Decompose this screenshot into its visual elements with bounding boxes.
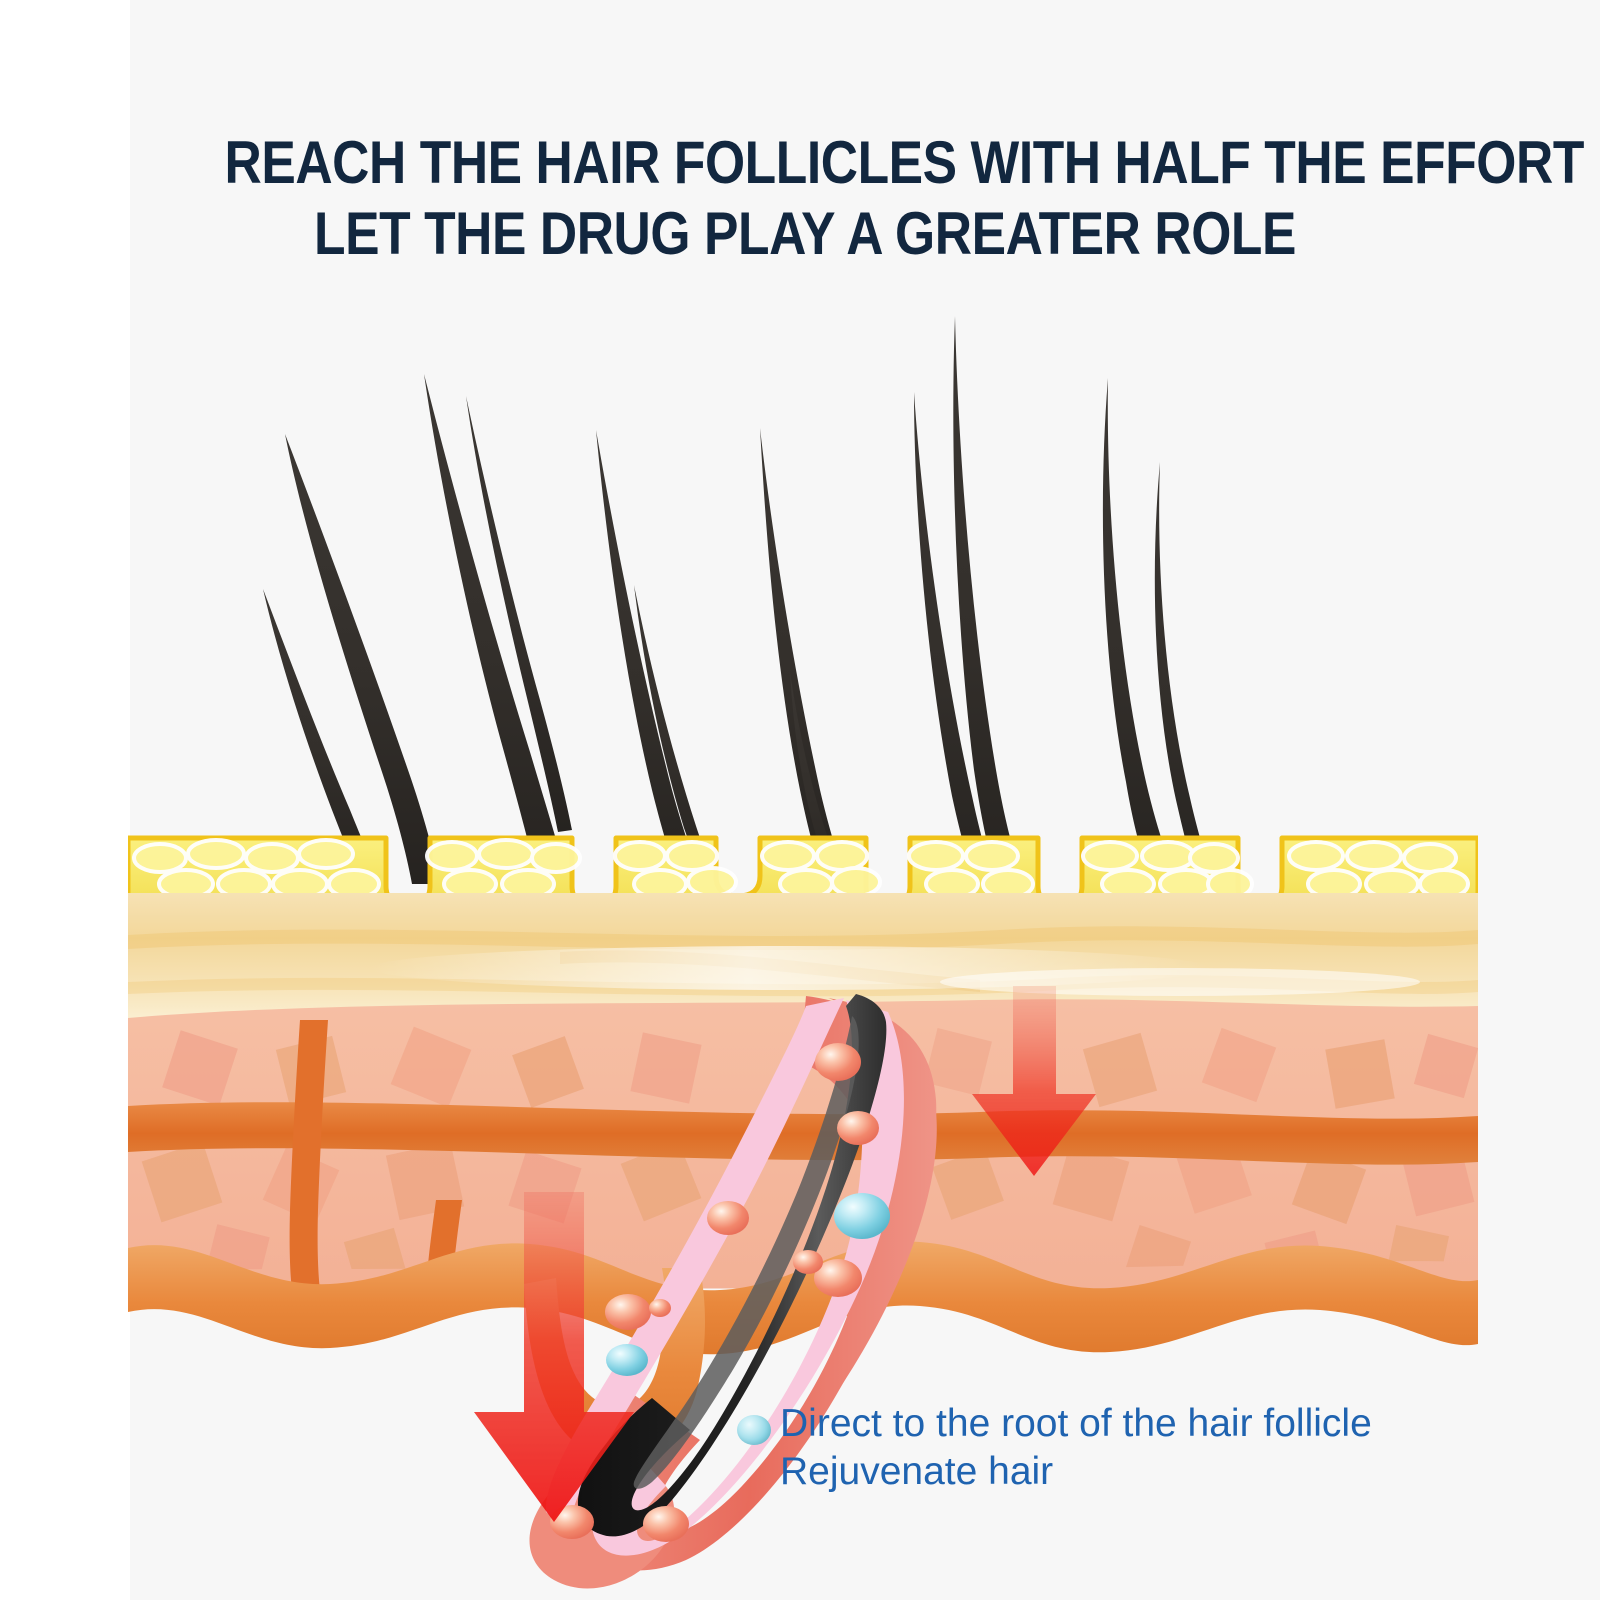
title-line-2: LET THE DRUG PLAY A GREATER ROLE — [225, 203, 1386, 264]
title-line-1: REACH THE HAIR FOLLICLES WITH HALF THE E… — [225, 132, 1386, 193]
drug-droplet — [605, 1294, 651, 1330]
caption-line-1: Direct to the root of the hair follicle — [780, 1400, 1480, 1448]
hair-strand — [1103, 378, 1186, 896]
blue-droplet-icon — [737, 1415, 771, 1445]
hair-strand — [1155, 462, 1218, 892]
infographic-root: REACH THE HAIR FOLLICLES WITH HALF THE E… — [0, 0, 1600, 1600]
drug-droplet — [643, 1506, 689, 1542]
moisture-droplet — [834, 1193, 890, 1239]
caption-line-2: Rejuvenate hair — [780, 1448, 1480, 1496]
hair-strand — [424, 374, 570, 890]
hair-strands-group — [263, 316, 1218, 902]
hair-strand — [285, 434, 440, 884]
epidermis-cells — [134, 840, 1468, 898]
drug-droplet — [793, 1250, 823, 1274]
drug-droplet — [707, 1201, 749, 1235]
drug-droplet — [649, 1299, 671, 1317]
illustration-clip-group — [128, 316, 1478, 1588]
hair-strand — [760, 428, 854, 896]
moisture-droplet — [606, 1344, 648, 1376]
page-title: REACH THE HAIR FOLLICLES WITH HALF THE E… — [130, 132, 1480, 264]
caption-block: Direct to the root of the hair follicle … — [780, 1400, 1480, 1495]
drug-droplet — [837, 1111, 879, 1145]
drug-droplet — [815, 1043, 861, 1081]
